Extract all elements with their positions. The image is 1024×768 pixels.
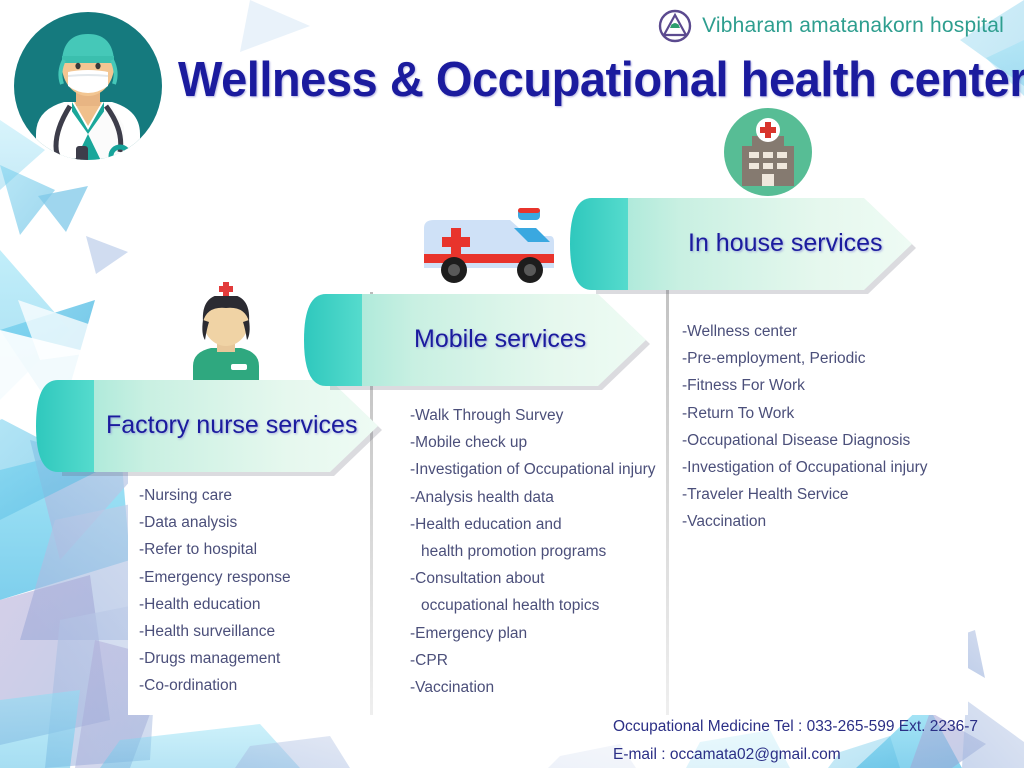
list-item: -Analysis health data (410, 484, 656, 511)
list-item: -Emergency response (139, 564, 291, 591)
list-item: -Health education (139, 591, 291, 618)
brand: Vibharam amatanakorn hospital (657, 8, 1004, 44)
list-item: -Nursing care (139, 482, 291, 509)
list-item: -Wellness center (682, 318, 928, 345)
list-item: -Drugs management (139, 645, 291, 672)
ambulance-icon (418, 206, 558, 290)
list-item: -Mobile check up (410, 429, 656, 456)
nurse-icon (183, 276, 269, 384)
list-item: -Investigation of Occupational injury (410, 456, 656, 483)
list-item: -Vaccination (682, 508, 928, 535)
banner-label: Factory nurse services (106, 378, 357, 472)
list-item: -Traveler Health Service (682, 481, 928, 508)
service-list-factory-nurse: -Nursing care-Data analysis-Refer to hos… (139, 482, 291, 700)
list-item: -CPR (410, 647, 656, 674)
contact-email: E-mail : occamata02@gmail.com (613, 741, 978, 768)
contact-phone: Occupational Medicine Tel : 033-265-599 … (613, 713, 978, 741)
list-item: -Investigation of Occupational injury (682, 454, 928, 481)
list-item: -Vaccination (410, 674, 656, 701)
list-item: -Fitness For Work (682, 372, 928, 399)
page-title: Wellness & Occupational health center (178, 52, 975, 108)
list-item: -Data analysis (139, 509, 291, 536)
list-item: occupational health topics (410, 592, 656, 619)
contact-info: Occupational Medicine Tel : 033-265-599 … (613, 713, 978, 768)
list-item: -Refer to hospital (139, 536, 291, 563)
infographic-poster: Vibharam amatanakorn hospital Wellness &… (0, 0, 1024, 768)
list-item: -Emergency plan (410, 620, 656, 647)
list-item: -Consultation about (410, 565, 656, 592)
service-list-in-house: -Wellness center-Pre-employment, Periodi… (682, 318, 928, 536)
banner-label: Mobile services (414, 292, 586, 386)
list-item: -Walk Through Survey (410, 402, 656, 429)
list-item: -Health education and (410, 511, 656, 538)
triangle-circle-logo-icon (657, 8, 693, 44)
service-list-mobile: -Walk Through Survey-Mobile check up-Inv… (410, 402, 656, 701)
banner-mobile-services: Mobile services (302, 292, 650, 386)
list-item: -Health surveillance (139, 618, 291, 645)
list-item: -Return To Work (682, 400, 928, 427)
brand-name: Vibharam amatanakorn hospital (702, 14, 1004, 38)
list-item: -Occupational Disease Diagnosis (682, 427, 928, 454)
list-item: -Pre-employment, Periodic (682, 345, 928, 372)
hospital-building-icon (718, 102, 818, 202)
list-item: -Co-ordination (139, 672, 291, 699)
doctor-avatar-icon (8, 6, 168, 171)
list-item: health promotion programs (410, 538, 656, 565)
banner-factory-nurse-services: Factory nurse services (34, 378, 382, 472)
banner-in-house-services: In house services (568, 196, 916, 290)
banner-label: In house services (688, 196, 883, 290)
